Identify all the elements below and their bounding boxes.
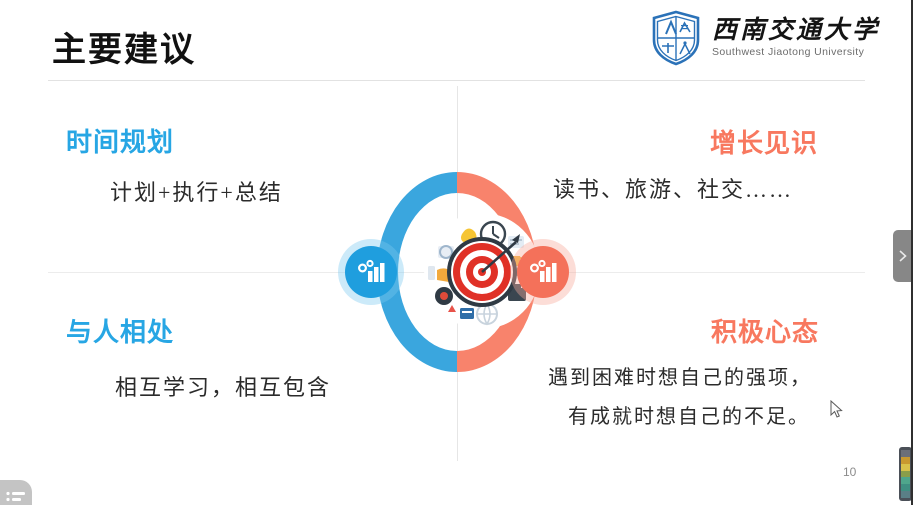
quadrant-body-time-planning: 计划+执行+总结 — [110, 175, 283, 207]
mouse-cursor — [830, 400, 844, 420]
right-panel-toggle-button[interactable] — [893, 230, 913, 282]
logo-english-name: Southwest Jiaotong University — [712, 46, 880, 58]
quadrant-heading-positive-mindset: 积极心态 — [711, 312, 819, 349]
badge-left-bar-chart-gear-icon — [345, 246, 397, 298]
chevron-right-icon — [898, 249, 908, 263]
quadrant-heading-broaden-horizons: 增长见识 — [710, 123, 818, 160]
list-menu-icon — [6, 490, 26, 503]
quadrant-heading-getting-along: 与人相处 — [66, 312, 174, 349]
quadrant-body-getting-along: 相互学习，相互包含 — [115, 370, 331, 402]
quadrant-body-broaden-horizons: 读书、旅游、社交…… — [553, 172, 793, 204]
donut-ring — [377, 172, 537, 372]
quadrant-body-positive-mindset-line1: 遇到困难时想自己的强项， — [548, 361, 812, 390]
page-title: 主要建议 — [52, 22, 196, 71]
center-target-diagram — [352, 172, 562, 372]
badge-right-bar-chart-gear-icon — [517, 246, 569, 298]
page-number: 10 — [843, 465, 856, 479]
presentation-slide: 主要建议 西南交通大学 Southwest Jiaotong Universit… — [0, 0, 913, 505]
left-panel-toggle-button[interactable] — [0, 480, 32, 505]
university-logo: 西南交通大学 Southwest Jiaotong University — [650, 8, 875, 68]
logo-chinese-name: 西南交通大学 — [712, 18, 880, 44]
quadrant-heading-time-planning: 时间规划 — [66, 122, 174, 159]
header-divider — [48, 80, 865, 81]
quadrant-body-positive-mindset-line2: 有成就时想自己的不足。 — [568, 400, 810, 429]
shield-icon — [650, 10, 702, 66]
